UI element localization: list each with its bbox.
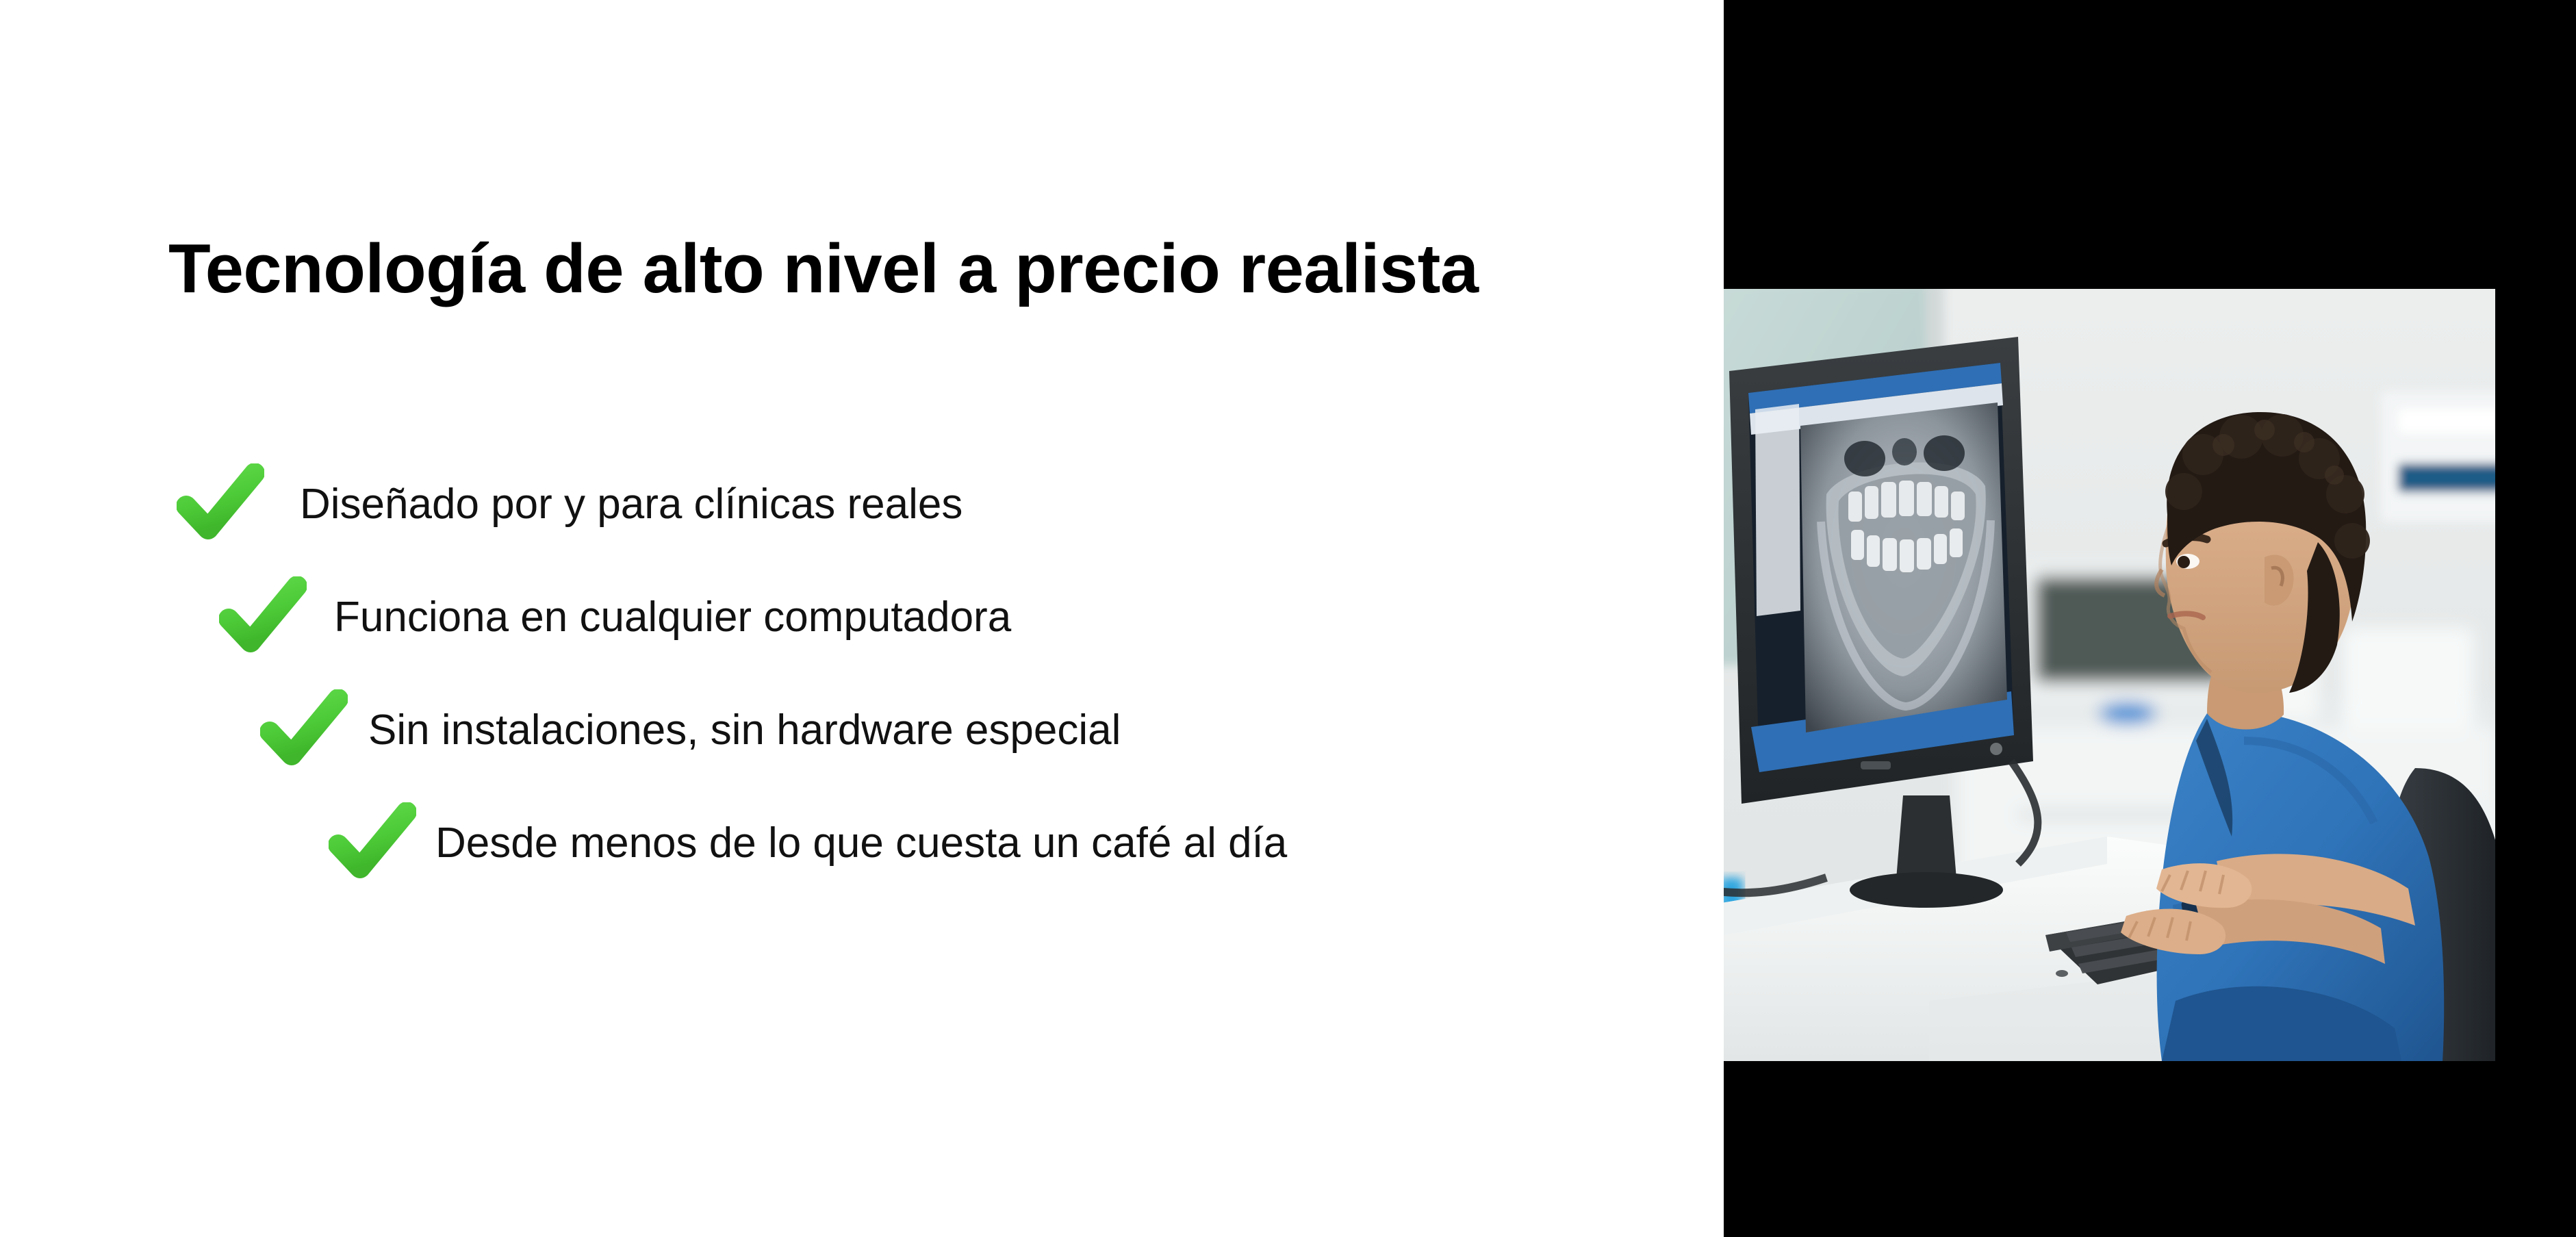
- green-check-icon: [219, 576, 307, 660]
- green-check-icon: [260, 689, 348, 773]
- benefits-list: Diseñado por y para clínicas reales Func…: [0, 448, 1724, 900]
- list-item-label: Desde menos de lo que cuesta un café al …: [435, 818, 1287, 869]
- list-item: Diseñado por y para clínicas reales: [0, 448, 1724, 561]
- list-item: Sin instalaciones, sin hardware especial: [0, 674, 1724, 787]
- green-check-icon: [329, 802, 416, 886]
- clinic-photo: [1724, 289, 2495, 1061]
- list-item-label: Diseñado por y para clínicas reales: [300, 479, 962, 530]
- list-item: Funciona en cualquier computadora: [0, 561, 1724, 674]
- list-item: Desde menos de lo que cuesta un café al …: [0, 787, 1724, 900]
- page-title: Tecnología de alto nivel a precio realis…: [168, 233, 1479, 305]
- clinic-photo-illustration: [1724, 289, 2495, 1061]
- list-item-label: Sin instalaciones, sin hardware especial: [368, 705, 1121, 756]
- list-item-label: Funciona en cualquier computadora: [334, 592, 1011, 643]
- content-pane: Tecnología de alto nivel a precio realis…: [0, 0, 1724, 1237]
- media-panel: [1724, 0, 2576, 1237]
- slide-root: Tecnología de alto nivel a precio realis…: [0, 0, 2576, 1237]
- green-check-icon: [177, 463, 264, 547]
